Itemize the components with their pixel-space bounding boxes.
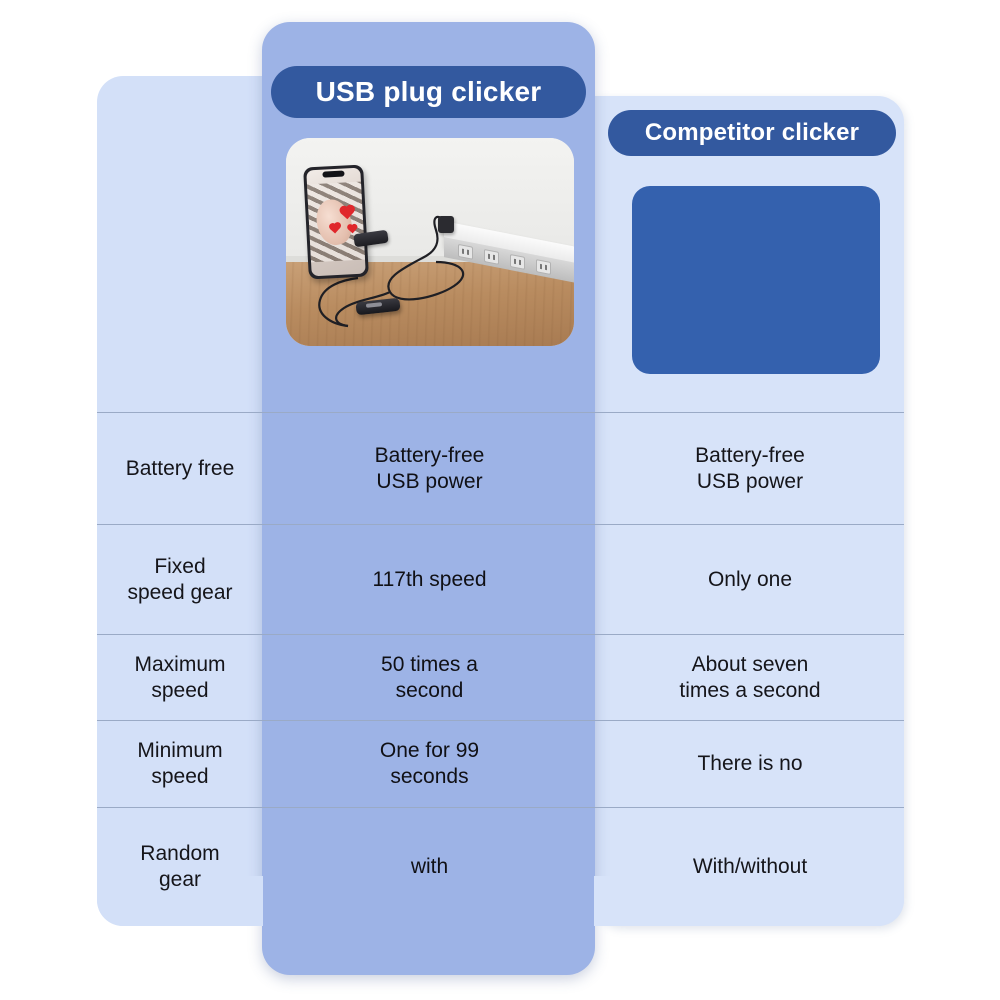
product-photo-card (286, 138, 574, 346)
feature-label: Battery free (97, 413, 263, 524)
competitor-value: Only one (596, 525, 904, 634)
table-row: Fixed speed gear 117th speed Only one (97, 524, 904, 634)
table-row: Battery free Battery-free USB power Batt… (97, 412, 904, 524)
table-row: Minimum speed One for 99 seconds There i… (97, 720, 904, 807)
product-value: Battery-free USB power (263, 413, 596, 524)
comparison-table: Battery free Battery-free USB power Batt… (97, 412, 904, 926)
product-value: 50 times a second (263, 635, 596, 720)
competitor-value: About seven times a second (596, 635, 904, 720)
table-row: Random gear with With/without (97, 807, 904, 925)
competitor-title-text: Competitor clicker (645, 119, 859, 147)
product-value: 117th speed (263, 525, 596, 634)
competitor-photo-card (632, 186, 880, 374)
product-title-badge: USB plug clicker (271, 66, 586, 118)
competitor-value: There is no (596, 721, 904, 807)
product-title-text: USB plug clicker (316, 76, 542, 108)
competitor-value: Battery-free USB power (596, 413, 904, 524)
feature-label: Minimum speed (97, 721, 263, 807)
competitor-value: With/without (596, 808, 904, 925)
table-row: Maximum speed 50 times a second About se… (97, 634, 904, 720)
photo-socket (458, 244, 473, 260)
feature-label: Fixed speed gear (97, 525, 263, 634)
photo-phone-notch (322, 170, 344, 177)
product-value: One for 99 seconds (263, 721, 596, 807)
photo-usb-adapter (438, 216, 454, 233)
product-value: with (263, 808, 596, 925)
feature-label: Random gear (97, 808, 263, 925)
photo-socket (484, 249, 499, 265)
photo-phone-screen (306, 168, 365, 277)
feature-label: Maximum speed (97, 635, 263, 720)
comparison-infographic: USB plug clicker Competitor clicker (0, 0, 1000, 1000)
photo-phone (303, 165, 369, 280)
competitor-title-badge: Competitor clicker (608, 110, 896, 156)
photo-socket (536, 259, 551, 275)
photo-socket (510, 254, 525, 270)
